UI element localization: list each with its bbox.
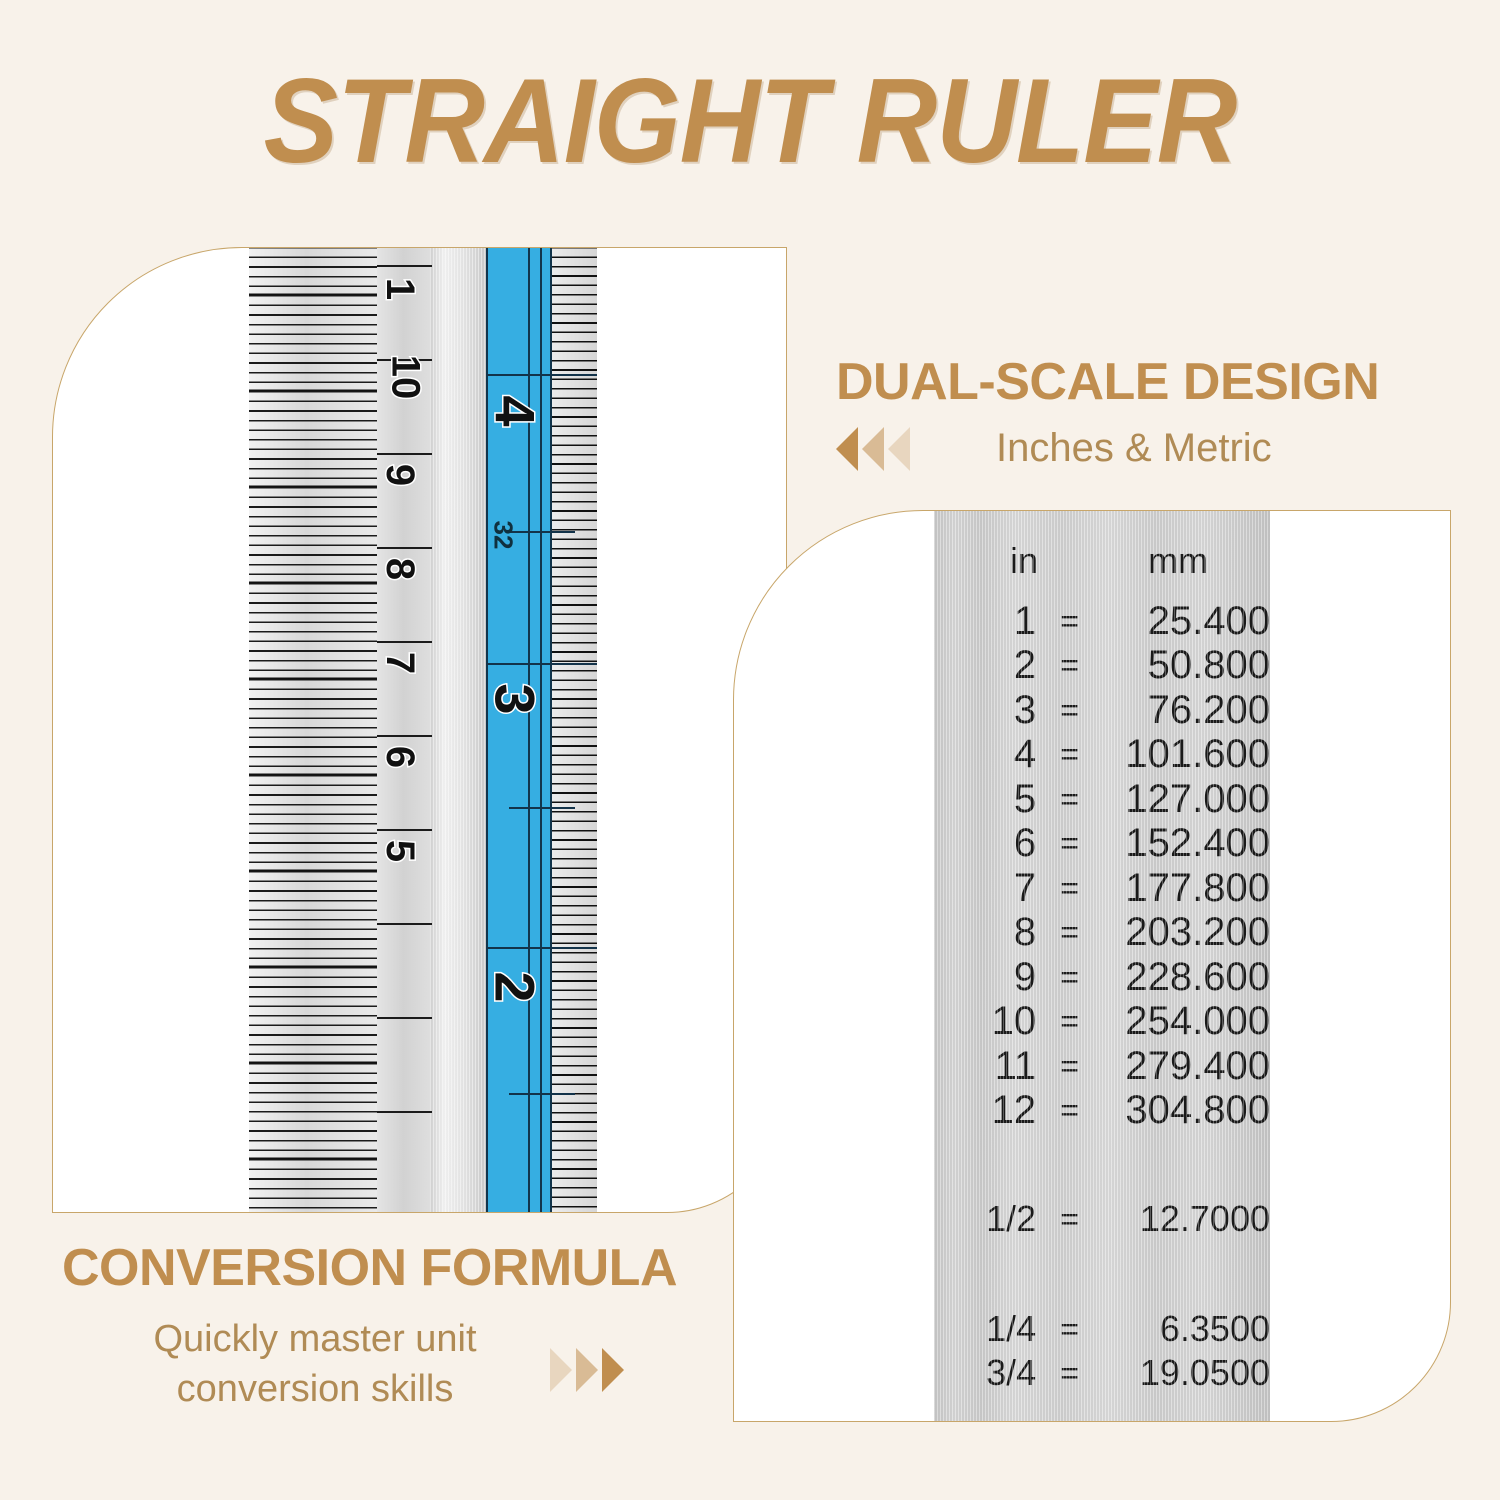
chart-cell-equals: = xyxy=(1042,1311,1097,1348)
chart-cell-mm: 152.400 xyxy=(1097,821,1270,866)
chart-row: 9=228.600 xyxy=(934,958,1270,996)
chart-cell-equals: = xyxy=(1042,870,1097,907)
chart-row: 3=76.200 xyxy=(934,691,1270,729)
blue-vertical-rule xyxy=(528,247,530,1213)
chart-cell-in: 10 xyxy=(934,999,1042,1044)
ruler-image: 1 10 9 8 7 6 5 4 3 2 32 xyxy=(249,247,597,1213)
chart-cell-in: 9 xyxy=(934,955,1042,1000)
chart-header-in: in xyxy=(934,540,1038,582)
dual-scale-feature: DUAL-SCALE DESIGN Inches & Metric xyxy=(836,352,1436,471)
chevron-right-icon xyxy=(602,1348,624,1392)
chart-cell-equals: = xyxy=(1042,1092,1097,1129)
chart-row: 12=304.800 xyxy=(934,1092,1270,1130)
inch-separator xyxy=(486,663,597,665)
chart-cell-equals: = xyxy=(1042,692,1097,729)
chart-cell-equals: = xyxy=(1042,1201,1097,1238)
chart-cell-mm: 101.600 xyxy=(1097,732,1270,777)
dual-scale-title: DUAL-SCALE DESIGN xyxy=(836,352,1436,412)
silver-face-band xyxy=(430,247,486,1213)
metric-long-marks xyxy=(249,247,377,1213)
conversion-chart: in mm 1=25.4002=50.8003=76.2004=101.6005… xyxy=(934,510,1270,1422)
cm-separator xyxy=(377,453,432,455)
conversion-formula-title: CONVERSION FORMULA xyxy=(62,1238,762,1298)
page-title: STRAIGHT RULER xyxy=(53,52,1448,190)
chart-cell-in: 1/2 xyxy=(934,1198,1042,1240)
chart-row: 3/4=19.0500 xyxy=(934,1354,1270,1392)
chart-cell-in: 6 xyxy=(934,821,1042,866)
chart-row: 7=177.800 xyxy=(934,869,1270,907)
ruler-inch-label: 2 xyxy=(487,971,543,1002)
cm-separator xyxy=(377,547,432,549)
chart-cell-in: 1/4 xyxy=(934,1308,1042,1350)
chart-cell-mm: 127.000 xyxy=(1097,777,1270,822)
chevron-left-icon xyxy=(888,427,910,471)
inch-half-separator xyxy=(509,807,575,809)
dual-scale-subtitle: Inches & Metric xyxy=(996,426,1272,471)
chart-cell-in: 1 xyxy=(934,599,1042,644)
chart-cell-mm: 12.7000 xyxy=(1097,1198,1270,1240)
chart-cell-in: 11 xyxy=(934,1044,1042,1089)
chart-row: 1/4=6.3500 xyxy=(934,1310,1270,1348)
chart-row: 11=279.400 xyxy=(934,1047,1270,1085)
chart-cell-equals: = xyxy=(1042,603,1097,640)
chevron-right-icon xyxy=(550,1348,572,1392)
chart-cell-mm: 279.400 xyxy=(1097,1044,1270,1089)
cm-separator xyxy=(377,829,432,831)
chart-header-spacer xyxy=(1038,540,1094,582)
chevron-group-right xyxy=(550,1348,624,1392)
chart-cell-mm: 25.400 xyxy=(1097,599,1270,644)
chart-row: 6=152.400 xyxy=(934,825,1270,863)
chart-cell-in: 5 xyxy=(934,777,1042,822)
chevron-right-icon xyxy=(576,1348,598,1392)
chart-cell-mm: 177.800 xyxy=(1097,866,1270,911)
chart-cell-equals: = xyxy=(1042,1048,1097,1085)
chart-cell-equals: = xyxy=(1042,647,1097,684)
chart-cell-mm: 76.200 xyxy=(1097,688,1270,733)
chart-header-mm: mm xyxy=(1094,540,1262,582)
chart-row: 2=50.800 xyxy=(934,647,1270,685)
chart-cell-in: 2 xyxy=(934,643,1042,688)
chart-cell-equals: = xyxy=(1042,1355,1097,1392)
ruler-metric-label: 7 xyxy=(380,652,420,674)
ruler-metric-label: 1 xyxy=(380,278,420,300)
conversion-subtitle-line-1: Quickly master unit xyxy=(80,1314,550,1364)
chart-cell-in: 12 xyxy=(934,1088,1042,1133)
cm-separator xyxy=(377,1111,432,1113)
cm-separator xyxy=(377,1017,432,1019)
ruler-metric-label: 10 xyxy=(385,355,425,400)
cm-separator xyxy=(377,641,432,643)
ruler-metric-label: 9 xyxy=(380,464,420,486)
ruler-fraction-label: 32 xyxy=(490,521,516,550)
ruler-metric-label: 5 xyxy=(380,840,420,862)
chart-cell-in: 3/4 xyxy=(934,1352,1042,1394)
chart-cell-mm: 304.800 xyxy=(1097,1088,1270,1133)
conversion-formula-subtitle: Quickly master unit conversion skills xyxy=(80,1314,550,1414)
chart-cell-in: 3 xyxy=(934,688,1042,733)
infographic-canvas: STRAIGHT RULER xyxy=(0,0,1500,1500)
chart-cell-mm: 6.3500 xyxy=(1097,1308,1270,1350)
inch-half-separator xyxy=(509,1093,575,1095)
ruler-inch-label: 4 xyxy=(487,395,543,426)
chart-cell-equals: = xyxy=(1042,781,1097,818)
ruler-metric-label: 6 xyxy=(380,746,420,768)
inch-separator xyxy=(486,947,597,949)
cm-separator xyxy=(377,923,432,925)
chart-cell-mm: 19.0500 xyxy=(1097,1352,1270,1394)
cm-separator xyxy=(377,735,432,737)
chevron-left-icon xyxy=(862,427,884,471)
chart-row: 10=254.000 xyxy=(934,1003,1270,1041)
inch-separator xyxy=(486,374,597,376)
chart-header-row: in mm xyxy=(934,540,1270,582)
metal-ruler-strip: in mm 1=25.4002=50.8003=76.2004=101.6005… xyxy=(934,510,1270,1422)
conversion-subtitle-line-2: conversion skills xyxy=(80,1364,550,1414)
chart-cell-equals: = xyxy=(1042,736,1097,773)
chart-cell-mm: 254.000 xyxy=(1097,999,1270,1044)
chart-cell-equals: = xyxy=(1042,1003,1097,1040)
chart-row: 5=127.000 xyxy=(934,780,1270,818)
chart-row: 1=25.400 xyxy=(934,602,1270,640)
chart-cell-in: 8 xyxy=(934,910,1042,955)
conversion-formula-feature: CONVERSION FORMULA Quickly master unit c… xyxy=(62,1238,762,1414)
inch-tick-band xyxy=(552,247,597,1213)
chart-cell-in: 4 xyxy=(934,732,1042,777)
chart-cell-equals: = xyxy=(1042,959,1097,996)
chart-cell-equals: = xyxy=(1042,914,1097,951)
chart-cell-in: 7 xyxy=(934,866,1042,911)
conversion-chart-panel: in mm 1=25.4002=50.8003=76.2004=101.6005… xyxy=(733,510,1451,1422)
chart-cell-equals: = xyxy=(1042,825,1097,862)
ruler-metric-label: 8 xyxy=(380,558,420,580)
blue-vertical-rule xyxy=(550,247,552,1213)
chart-row: 1/2=12.7000 xyxy=(934,1200,1270,1238)
ruler-inch-label: 3 xyxy=(487,683,543,714)
cm-separator xyxy=(377,265,432,267)
chart-cell-mm: 203.200 xyxy=(1097,910,1270,955)
chart-row: 4=101.600 xyxy=(934,736,1270,774)
chart-row: 8=203.200 xyxy=(934,914,1270,952)
chart-cell-mm: 228.600 xyxy=(1097,955,1270,1000)
blue-vertical-rule xyxy=(486,247,488,1213)
inch-half-separator xyxy=(509,531,575,533)
chevron-left-icon xyxy=(836,427,858,471)
chart-cell-mm: 50.800 xyxy=(1097,643,1270,688)
ruler-photo-panel: 1 10 9 8 7 6 5 4 3 2 32 xyxy=(52,247,787,1213)
blue-vertical-rule xyxy=(540,247,542,1213)
chevron-group-left xyxy=(836,427,910,471)
